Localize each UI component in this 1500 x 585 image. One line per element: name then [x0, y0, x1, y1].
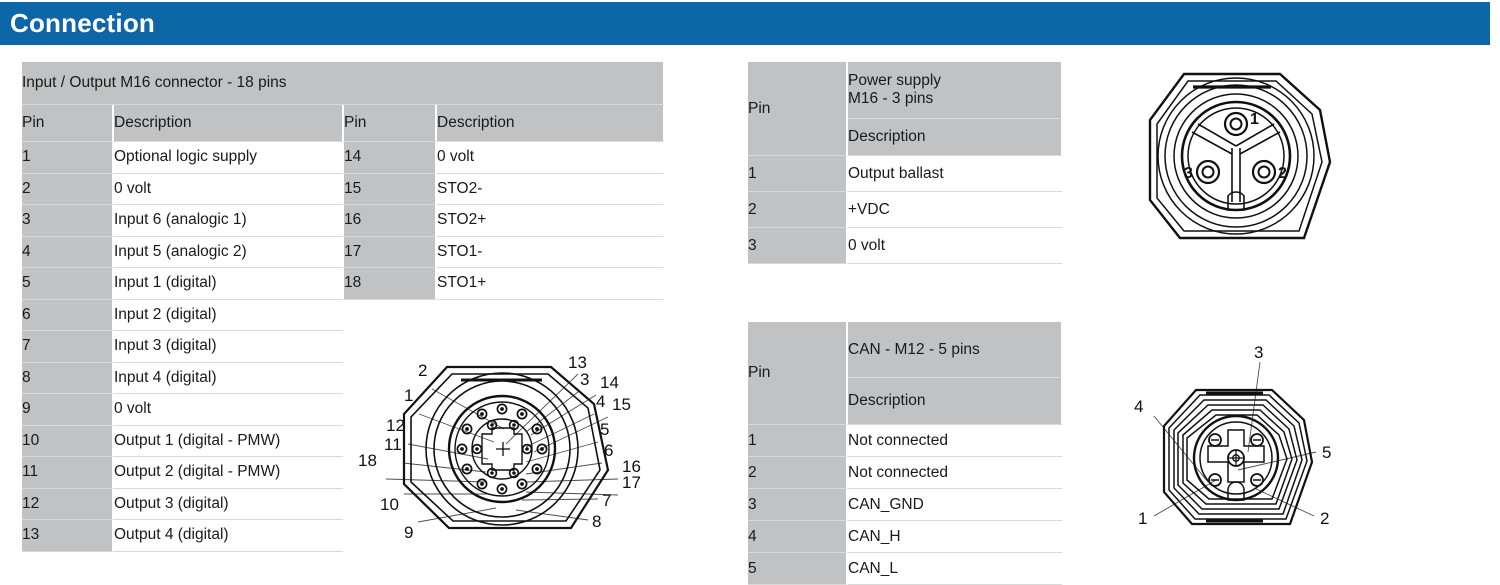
m16-3pin-connector-diagram: 1 2 3	[1108, 62, 1368, 272]
table-row: 1 Optional logic supply 14 0 volt	[22, 142, 665, 174]
pin-description: Optional logic supply	[114, 142, 344, 174]
callout-17: 17	[622, 473, 641, 492]
callout-8: 8	[592, 512, 601, 531]
header-description: Description	[848, 119, 1063, 156]
table-row: 3 0 volt	[748, 228, 1063, 264]
pin-description: Output 2 (digital - PMW)	[114, 457, 344, 489]
header-pin-left: Pin	[22, 105, 114, 142]
pin-description: Output 1 (digital - PMW)	[114, 426, 344, 458]
callout-1: 1	[1138, 509, 1147, 528]
table-row: 5 CAN_L	[748, 553, 1063, 585]
pin-description: 0 volt	[437, 142, 665, 174]
header-pin: Pin	[748, 62, 848, 156]
pin-description: STO1+	[437, 268, 665, 300]
pin-number: 3	[748, 228, 848, 264]
pin-description: Output 3 (digital)	[114, 489, 344, 521]
table-row: 3 CAN_GND	[748, 489, 1063, 521]
callout-18: 18	[358, 451, 377, 470]
pin-description: Output 4 (digital)	[114, 520, 344, 552]
pin-number: 15	[344, 174, 437, 206]
power-title-line2: M16 - 3 pins	[848, 90, 933, 107]
pin-description: STO1-	[437, 237, 665, 269]
table-row: 3 Input 6 (analogic 1) 16 STO2+	[22, 205, 665, 237]
pin-description: Input 1 (digital)	[114, 268, 344, 300]
pin-description: Input 4 (digital)	[114, 363, 344, 395]
pin-number: 3	[748, 489, 848, 521]
io-table-title: Input / Output M16 connector - 18 pins	[22, 62, 665, 105]
callout-15: 15	[612, 395, 631, 414]
pin-description: STO2-	[437, 174, 665, 206]
callout-10: 10	[380, 495, 399, 514]
callout-3: 3	[580, 370, 589, 389]
pin-description: Input 5 (analogic 2)	[114, 237, 344, 269]
pin-description: +VDC	[848, 192, 1063, 228]
pin-number: 5	[748, 553, 848, 585]
power-table-title: Power supply M16 - 3 pins	[848, 62, 1063, 119]
pin-label-1: 1	[1250, 111, 1259, 128]
pin-number: 2	[22, 174, 114, 206]
pin-number: 1	[22, 142, 114, 174]
table-row: 1 Output ballast	[748, 156, 1063, 192]
pin-description: 0 volt	[114, 174, 344, 206]
callout-12: 12	[386, 416, 405, 435]
table-row: 5 Input 1 (digital) 18 STO1+	[22, 268, 665, 300]
pin-number: 16	[344, 205, 437, 237]
pin-number: 11	[22, 457, 114, 489]
pin-description: 0 volt	[848, 228, 1063, 264]
pin-description: Input 2 (digital)	[114, 300, 344, 332]
pin-number: 9	[22, 394, 114, 426]
header-description: Description	[848, 378, 1063, 425]
table-header-row: Pin Description Pin Description	[22, 105, 665, 142]
callout-14: 14	[600, 373, 619, 392]
table-row: 1 Not connected	[748, 425, 1063, 457]
can-table-title: CAN - M12 - 5 pins	[848, 322, 1063, 378]
pin-number: 5	[22, 268, 114, 300]
callout-9: 9	[404, 523, 413, 542]
pin-number: 1	[748, 156, 848, 192]
table-title-row: Input / Output M16 connector - 18 pins	[22, 62, 665, 105]
pin-number: 10	[22, 426, 114, 458]
m12-5pin-connector-diagram: 3 4 5 1 2	[1108, 330, 1403, 582]
callout-4: 4	[596, 392, 605, 411]
callout-5: 5	[1322, 443, 1331, 462]
callout-5: 5	[600, 420, 609, 439]
pin-number: 12	[22, 489, 114, 521]
pin-number: 18	[344, 268, 437, 300]
pin-number: 2	[748, 192, 848, 228]
pin-number: 6	[22, 300, 114, 332]
m16-18pin-connector-diagram: 2 1 12 11 18 10 9 13 3 14 4 15 5 6 16 17…	[346, 322, 666, 580]
header-pin-right: Pin	[344, 105, 437, 142]
page-title: Connection	[0, 8, 155, 39]
table-row: 4 Input 5 (analogic 2) 17 STO1-	[22, 237, 665, 269]
pin-label-3: 3	[1184, 165, 1193, 182]
callout-6: 6	[604, 441, 613, 460]
pin-number: 4	[748, 521, 848, 553]
pin-number: 4	[22, 237, 114, 269]
callout-3: 3	[1254, 343, 1263, 362]
table-row: 2 Not connected	[748, 457, 1063, 489]
pin-number: 17	[344, 237, 437, 269]
pin-description: Not connected	[848, 457, 1063, 489]
table-title-row: Pin Power supply M16 - 3 pins	[748, 62, 1063, 119]
power-title-line1: Power supply	[848, 72, 941, 89]
pin-number: 2	[748, 457, 848, 489]
callout-7: 7	[602, 491, 611, 510]
pin-description: Output ballast	[848, 156, 1063, 192]
table-row: 2 0 volt 15 STO2-	[22, 174, 665, 206]
page-header-bar: Connection	[0, 2, 1490, 45]
pin-label-2: 2	[1278, 165, 1287, 182]
pin-description: STO2+	[437, 205, 665, 237]
table-row: 2 +VDC	[748, 192, 1063, 228]
table-row: 4 CAN_H	[748, 521, 1063, 553]
pin-description: CAN_GND	[848, 489, 1063, 521]
pin-number: 1	[748, 425, 848, 457]
pin-description: Not connected	[848, 425, 1063, 457]
can-bus-table: Pin CAN - M12 - 5 pins Description 1 Not…	[748, 322, 1063, 585]
callout-1: 1	[404, 386, 413, 405]
pin-description: Input 3 (digital)	[114, 331, 344, 363]
header-pin: Pin	[748, 322, 848, 425]
pin-number: 3	[22, 205, 114, 237]
callout-2: 2	[418, 361, 427, 380]
callout-4: 4	[1134, 397, 1143, 416]
header-description-right: Description	[437, 105, 665, 142]
pin-description: CAN_L	[848, 553, 1063, 585]
pin-description: Input 6 (analogic 1)	[114, 205, 344, 237]
table-title-row: Pin CAN - M12 - 5 pins	[748, 322, 1063, 378]
callout-11: 11	[384, 435, 402, 454]
pin-description: 0 volt	[114, 394, 344, 426]
header-description-left: Description	[114, 105, 344, 142]
pin-number: 14	[344, 142, 437, 174]
pin-number: 8	[22, 363, 114, 395]
pin-number: 13	[22, 520, 114, 552]
power-supply-table: Pin Power supply M16 - 3 pins Descriptio…	[748, 62, 1063, 264]
pin-description: CAN_H	[848, 521, 1063, 553]
pin-number: 7	[22, 331, 114, 363]
callout-2: 2	[1320, 509, 1329, 528]
